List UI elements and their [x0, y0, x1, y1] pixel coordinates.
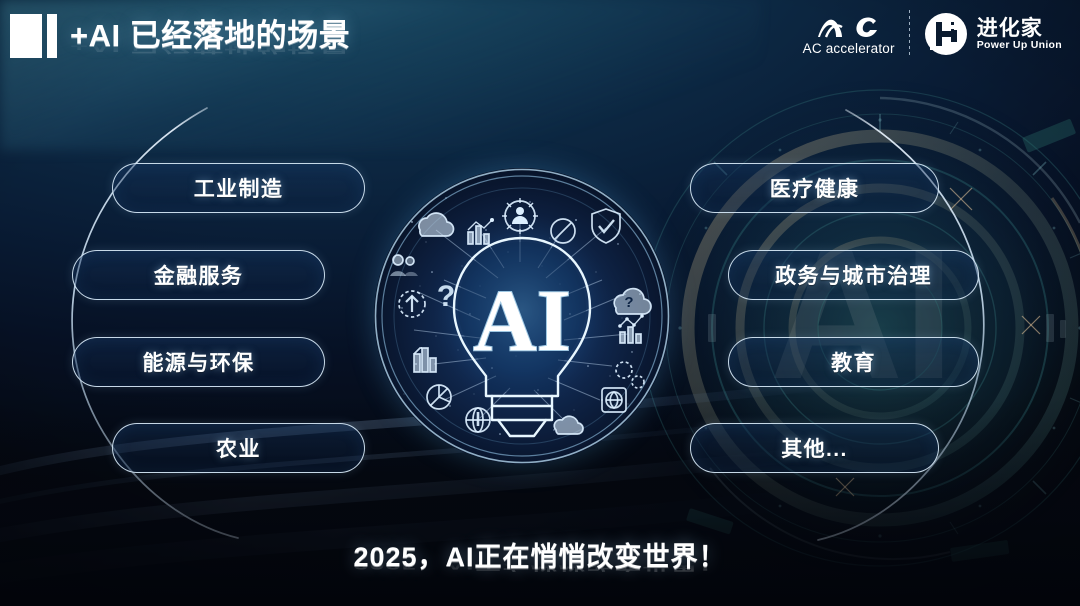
- scenario-pill-government-urban-governance[interactable]: 政务与城市治理: [728, 250, 979, 300]
- scenario-pill-label: 农业: [216, 433, 261, 463]
- logo-group: AC accelerator 进化家 Power Up Union: [803, 10, 1062, 58]
- svg-text:?: ?: [622, 277, 634, 299]
- scenario-pill-label: 政务与城市治理: [775, 260, 932, 290]
- scenario-pill-others[interactable]: 其他...: [690, 423, 939, 473]
- ac-monogram-icon: [814, 13, 884, 39]
- caption-wrap: 2025，AI正在悄悄改变世界！: [0, 540, 1080, 574]
- scenario-pill-education[interactable]: 教育: [728, 337, 979, 387]
- scenario-pill-label: 金融服务: [154, 260, 244, 290]
- scenario-pill-healthcare[interactable]: 医疗健康: [690, 163, 939, 213]
- scenario-pill-label: 能源与环保: [143, 347, 255, 377]
- slide-caption: 2025，AI正在悄悄改变世界！: [353, 540, 726, 574]
- scenario-pill-label: 医疗健康: [770, 173, 860, 203]
- scenario-pill-label: 其他...: [781, 433, 848, 463]
- scenario-pill-agriculture[interactable]: 农业: [112, 423, 365, 473]
- slide-header: +AI 已经落地的场景 +AI 已经落地的场景 AC accelerator: [0, 0, 1080, 78]
- power-up-union-cn-name: 进化家: [977, 18, 1062, 39]
- power-up-union-en-name: Power Up Union: [977, 40, 1062, 51]
- logo-dotted-divider: [909, 10, 910, 58]
- scenario-pill-industrial-manufacturing[interactable]: 工业制造: [112, 163, 365, 213]
- svg-text:AI: AI: [473, 273, 571, 370]
- page-title: +AI 已经落地的场景: [70, 14, 350, 58]
- svg-text:?: ?: [437, 280, 455, 313]
- ac-accelerator-logo: AC accelerator: [803, 13, 895, 56]
- power-up-union-logo: 进化家 Power Up Union: [924, 12, 1062, 56]
- scenario-pill-energy-environment[interactable]: 能源与环保: [72, 337, 325, 387]
- ac-accelerator-wordmark: AC accelerator: [803, 41, 895, 56]
- ai-hero-circle: AI: [374, 168, 670, 464]
- lightbulb-ai-network-illustration: AI: [374, 168, 670, 464]
- scenario-pill-label: 教育: [831, 347, 876, 377]
- scenario-pill-label: 工业制造: [194, 173, 284, 203]
- slide-root: AI: [0, 0, 1080, 606]
- scenario-pill-financial-services[interactable]: 金融服务: [72, 250, 325, 300]
- title-accent-bars-icon: [10, 14, 57, 58]
- power-up-union-badge-icon: [924, 12, 968, 56]
